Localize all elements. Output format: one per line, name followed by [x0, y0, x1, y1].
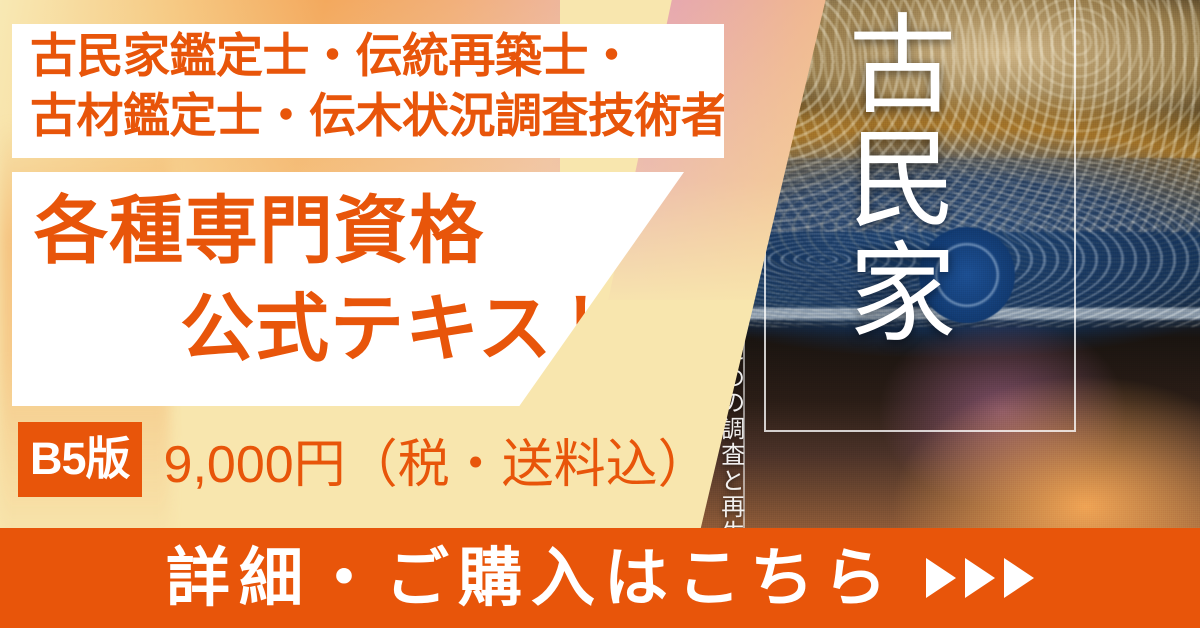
- triangle-right-icon: [965, 558, 995, 598]
- headline-panel: 古民家鑑定士・伝統再築士・ 古材鑑定士・伝木状況調査技術者: [12, 24, 724, 158]
- price-text: 9,000円（税・送料込）: [164, 422, 710, 497]
- cta-bar[interactable]: 詳細・ご購入はこちら: [0, 528, 1200, 628]
- headline-text: 古民家鑑定士・伝統再築士・ 古材鑑定士・伝木状況調査技術者: [30, 26, 720, 146]
- price-row: B5版 9,000円（税・送料込）: [18, 423, 710, 495]
- format-badge: B5版: [18, 422, 142, 497]
- triangle-right-icon: [926, 558, 956, 598]
- headline-line-1: 古民家鑑定士・伝統再築士・: [30, 29, 635, 82]
- headline-line-2: 古材鑑定士・伝木状況調査技術者: [30, 86, 720, 146]
- cta-arrow-group: [926, 558, 1034, 598]
- subhead-line-1: 各種専門資格: [12, 182, 684, 280]
- promo-banner[interactable]: 伝統構法、古民家活用のための調査と再生の 古民家 古民家鑑定士・伝統再築士・ 古…: [0, 0, 1200, 628]
- cta-label[interactable]: 詳細・ご購入はこちら: [166, 546, 896, 610]
- book-cover-title: 古民家: [828, 8, 955, 350]
- triangle-right-icon: [1004, 558, 1034, 598]
